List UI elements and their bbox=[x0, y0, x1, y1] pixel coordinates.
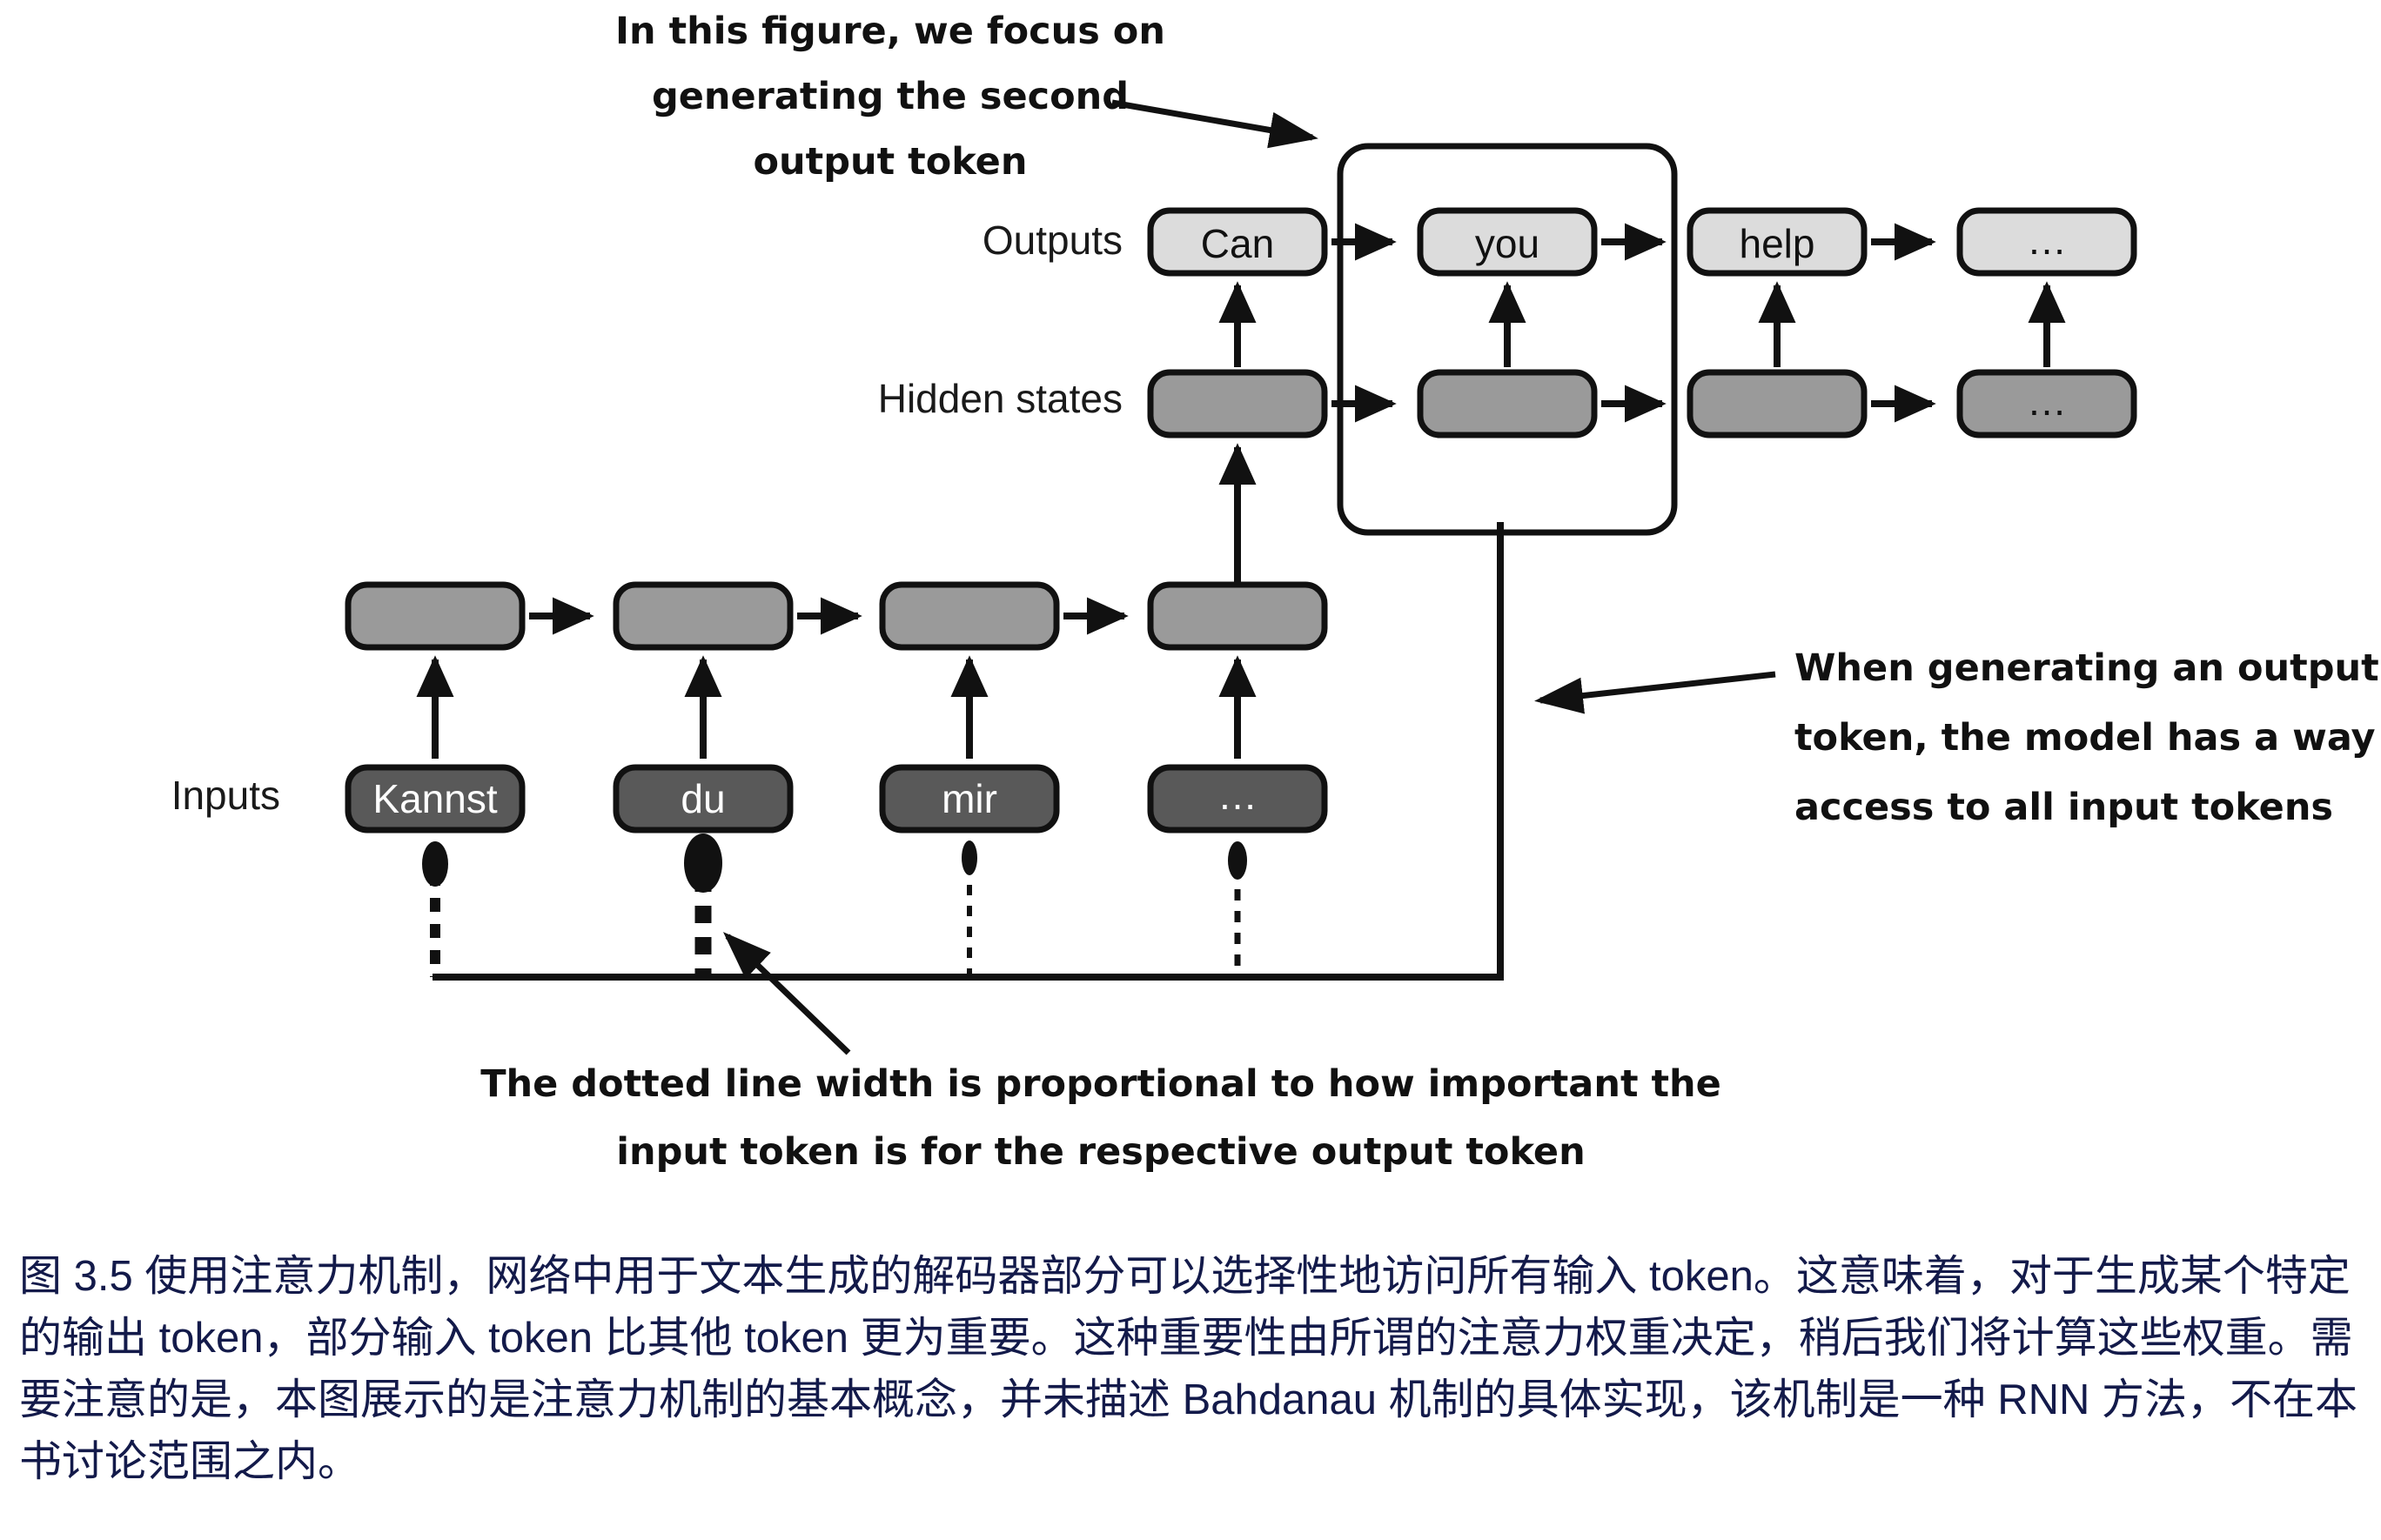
input-token-box-2[interactable]: mir bbox=[882, 767, 1056, 830]
output-token-box-3[interactable]: … bbox=[1960, 211, 2134, 273]
hidden-state-box-0[interactable] bbox=[1150, 372, 1325, 435]
output-token-label-0: Can bbox=[1201, 221, 1274, 266]
annotation-bottom-line-1: The dotted line width is proportional to… bbox=[480, 1062, 1721, 1106]
output-token-box-2[interactable]: help bbox=[1690, 211, 1864, 273]
outputs-row-label: Outputs bbox=[983, 218, 1123, 263]
annotation-top-line-2: generating the second bbox=[652, 75, 1129, 118]
output-token-label-3: … bbox=[2027, 218, 2067, 263]
figure-caption: 图 3.5 使用注意力机制，网络中用于文本生成的解码器部分可以选择性地访问所有输… bbox=[19, 1246, 2369, 1493]
input-token-label-0: Kannst bbox=[372, 776, 497, 821]
inputs-row-label: Inputs bbox=[171, 773, 280, 818]
hidden-state-box-3[interactable]: … bbox=[1960, 372, 2134, 435]
annotation-right-line-1: When generating an output bbox=[1794, 646, 2379, 690]
annotation-top-line-1: In this figure, we focus on bbox=[615, 10, 1165, 53]
hidden-state-box-2[interactable] bbox=[1690, 372, 1864, 435]
input-token-label-1: du bbox=[681, 776, 725, 821]
encoder-box-0[interactable] bbox=[348, 585, 522, 647]
output-token-box-0[interactable]: Can bbox=[1150, 211, 1325, 273]
input-token-box-0[interactable]: Kannst bbox=[348, 767, 522, 830]
annotation-top-line-3: output token bbox=[754, 140, 1028, 184]
attention-diagram: In this figure, we focus on generating t… bbox=[0, 0, 2381, 1235]
input-token-box-1[interactable]: du bbox=[616, 767, 790, 830]
annotation-right-line-3: access to all input tokens bbox=[1794, 786, 2333, 829]
output-token-box-1[interactable]: you bbox=[1420, 211, 1594, 273]
input-token-box-3[interactable]: … bbox=[1150, 767, 1325, 830]
hidden-state-label-3: … bbox=[2027, 378, 2067, 424]
annotation-bottom-line-2: input token is for the respective output… bbox=[616, 1130, 1585, 1174]
input-token-label-2: mir bbox=[942, 776, 997, 821]
output-token-label-1: you bbox=[1475, 221, 1539, 266]
encoder-box-1[interactable] bbox=[616, 585, 790, 647]
output-token-label-2: help bbox=[1740, 221, 1815, 266]
annotation-right-line-2: token, the model has a way to bbox=[1794, 716, 2381, 760]
input-token-label-3: … bbox=[1217, 773, 1258, 818]
outputs-row: Outputs Can you help … bbox=[983, 211, 2134, 273]
encoder-box-3[interactable] bbox=[1150, 585, 1325, 647]
hidden-states-row-label: Hidden states bbox=[878, 376, 1123, 421]
hidden-state-box-1[interactable] bbox=[1420, 372, 1594, 435]
encoder-box-2[interactable] bbox=[882, 585, 1056, 647]
